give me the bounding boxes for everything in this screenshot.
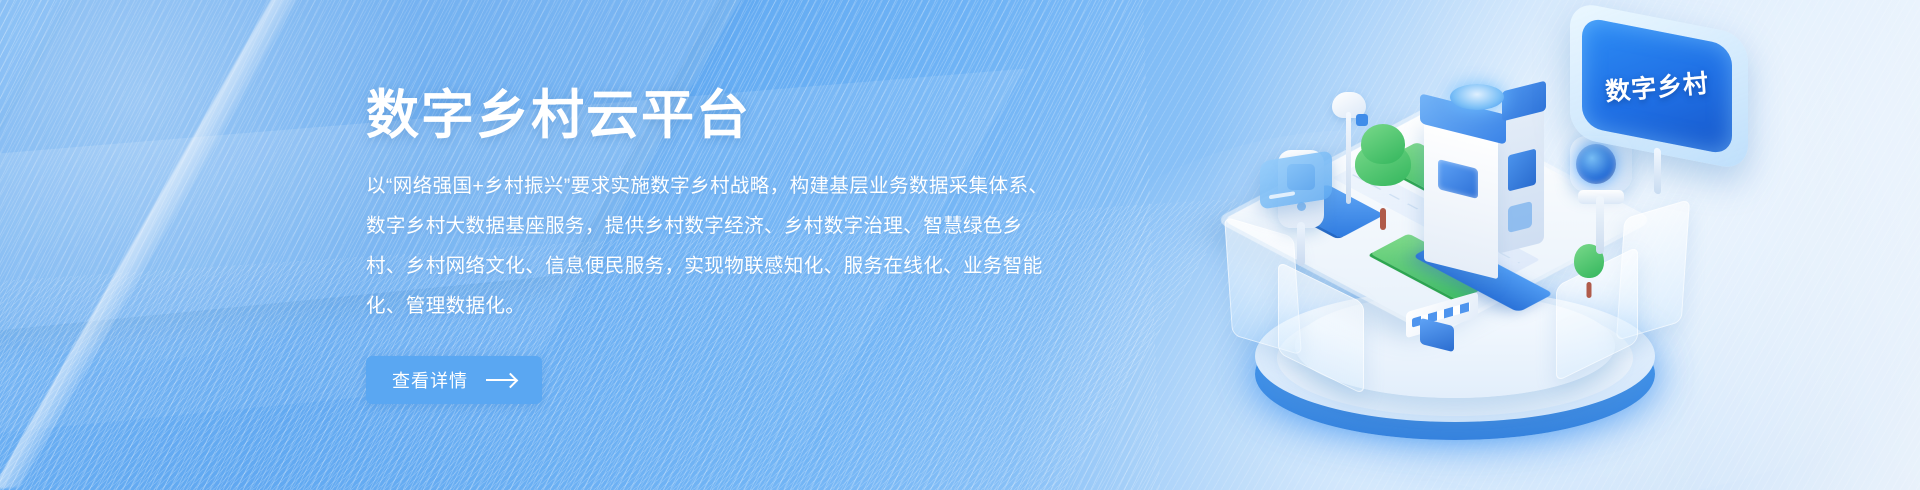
kiosk-panel	[1508, 149, 1536, 192]
lamp-pole	[1346, 112, 1351, 204]
hero-banner: 数字乡村云平台 以“网络强国+乡村振兴”要求实施数字乡村战略，构建基层业务数据采…	[0, 0, 1920, 490]
page-title: 数字乡村云平台	[366, 86, 1086, 145]
kiosk-front	[1424, 119, 1498, 279]
street-lamp	[1330, 92, 1370, 204]
kiosk-dome-light	[1450, 84, 1504, 110]
tree-trunk	[1380, 208, 1386, 230]
billboard-stem	[1654, 147, 1661, 194]
banner-copy: 数字乡村云平台 以“网络强国+乡村振兴”要求实施数字乡村战略，构建基层业务数据采…	[366, 86, 1086, 404]
tree-trunk	[1587, 282, 1592, 298]
lamp-sensor-chip	[1356, 114, 1368, 126]
service-kiosk-tower	[1424, 108, 1536, 284]
arrow-right-icon	[486, 379, 516, 381]
billboard-text: 数字乡村	[1604, 64, 1711, 109]
village-stall	[1406, 302, 1482, 352]
view-details-button[interactable]: 查看详情	[366, 356, 542, 404]
terminal-post	[1297, 222, 1305, 266]
view-details-label: 查看详情	[392, 367, 468, 393]
billboard: 数字乡村	[1570, 18, 1770, 188]
banner-description: 以“网络强国+乡村振兴”要求实施数字乡村战略，构建基层业务数据采集体系、数字乡村…	[366, 167, 1056, 326]
camera-post	[1596, 196, 1604, 254]
